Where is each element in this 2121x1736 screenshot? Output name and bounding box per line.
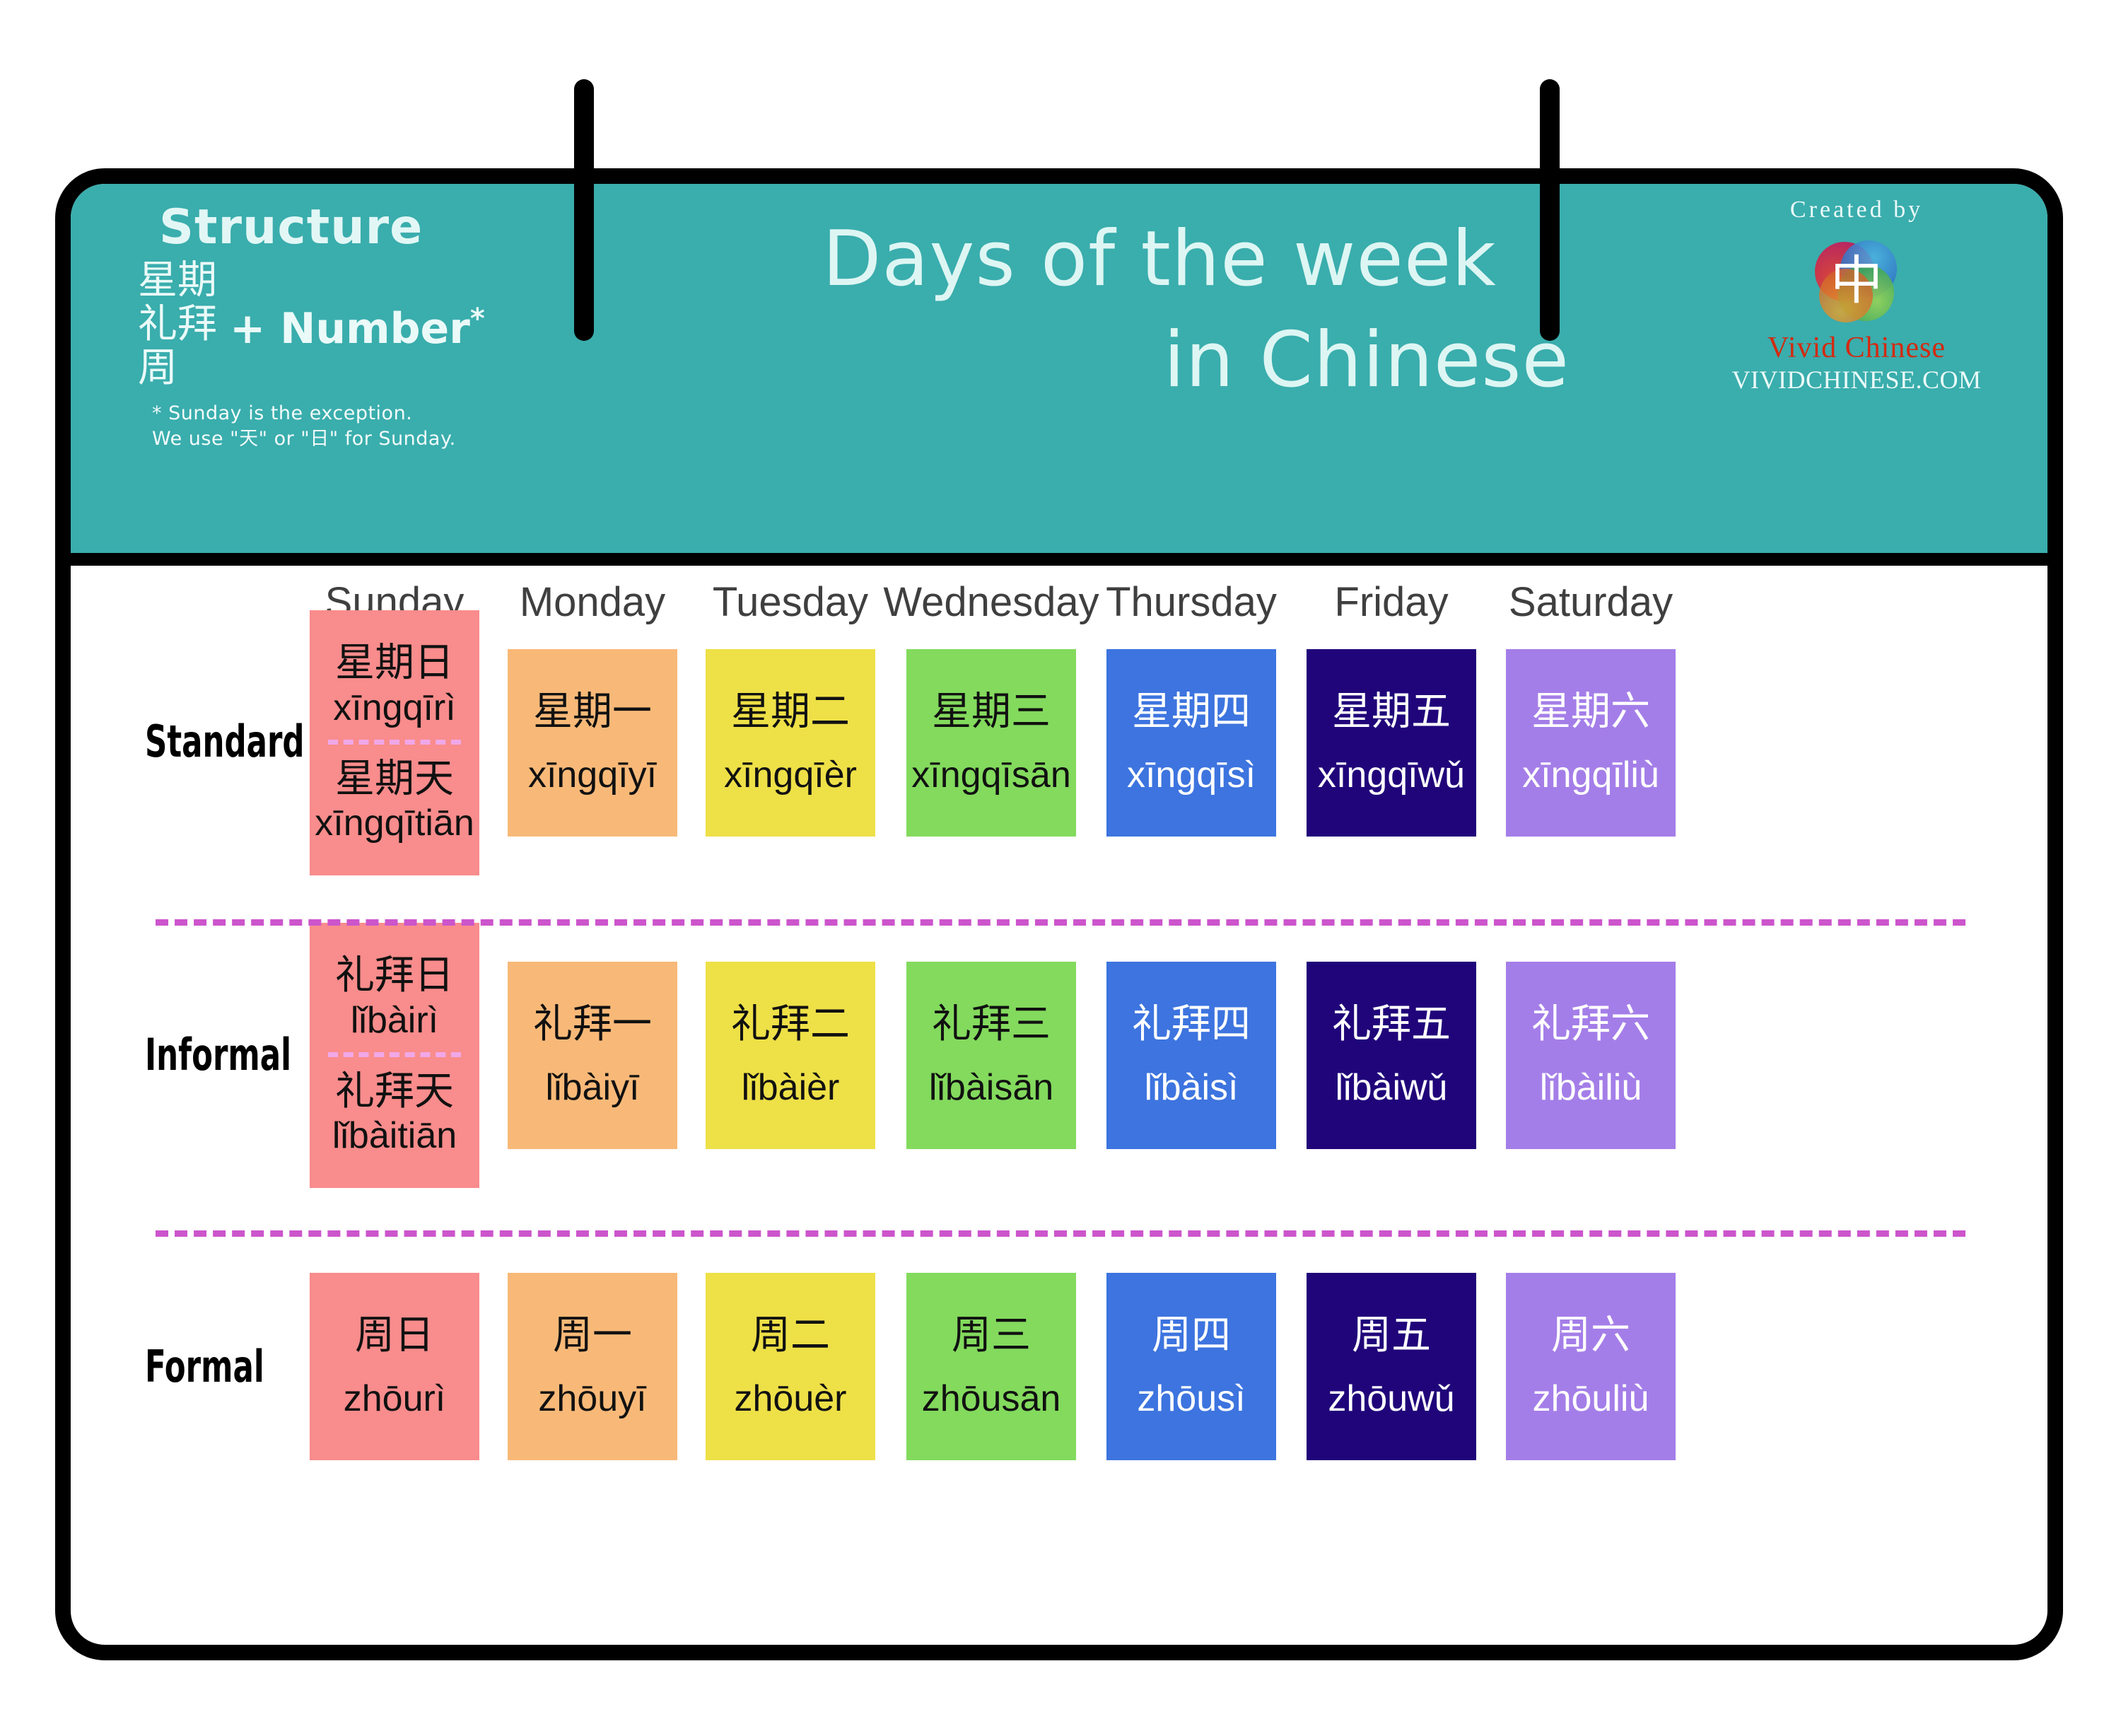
infographic-card: Structure 星期 礼拜 周 + Number* * Sunday is …: [55, 168, 2063, 1660]
hanzi-text: 周五: [1352, 1312, 1431, 1358]
hanzi-text: 礼拜四: [1132, 1001, 1251, 1047]
vivid-chinese-logo-icon: 中: [1804, 228, 1910, 334]
structure-word-xingqi: 星期: [138, 260, 217, 303]
binder-clip-right: [1540, 79, 1560, 341]
pinyin-text: zhōuyī: [538, 1377, 646, 1421]
hanzi-text: 礼拜三: [932, 1001, 1051, 1047]
page-title: Days of the week in Chinese: [693, 219, 1626, 401]
hanzi-text: 星期六: [1531, 689, 1650, 734]
cell-formal-sunday: 周日zhōurì: [310, 1273, 479, 1460]
pinyin-text: xīngqīliù: [1522, 753, 1659, 797]
footnote-line-2: We use "天" or "日" for Sunday.: [152, 426, 647, 452]
pinyin-text: zhōusì: [1137, 1377, 1245, 1421]
structure-block: Structure 星期 礼拜 周 + Number* * Sunday is …: [138, 199, 647, 453]
cell-informal-friday: 礼拜五lǐbàiwǔ: [1307, 962, 1476, 1149]
cell-formal-monday: 周一zhōuyī: [508, 1273, 677, 1460]
structure-word-stack: 星期 礼拜 周: [138, 260, 217, 391]
structure-footnote: * Sunday is the exception. We use "天" or…: [138, 401, 647, 453]
svg-text:中: 中: [1830, 250, 1883, 311]
pinyin-text: xīngqīèr: [724, 753, 857, 797]
cell-formal-saturday: 周六zhōuliù: [1506, 1273, 1676, 1460]
brand-name: Vivid Chinese: [1708, 331, 2005, 365]
pinyin-text: lǐbàiliù: [1540, 1066, 1642, 1109]
structure-word-libai: 礼拜: [138, 303, 217, 347]
cell-formal-friday: 周五zhōuwǔ: [1307, 1273, 1476, 1460]
brand-block: Created by: [1708, 197, 2005, 395]
hanzi-text: 周一: [553, 1312, 632, 1358]
pinyin-text: lǐbàitiān: [332, 1114, 457, 1158]
cell-formal-thursday: 周四zhōusì: [1106, 1273, 1276, 1460]
cell-informal-wednesday: 礼拜三lǐbàisān: [906, 962, 1076, 1149]
reading-secondary: 星期天xīngqītiān: [315, 756, 474, 846]
hanzi-text: 礼拜六: [1531, 1001, 1650, 1047]
cell-standard-tuesday: 星期二xīngqīèr: [706, 649, 875, 837]
binder-clip-left: [574, 79, 594, 341]
hanzi-text: 礼拜二: [731, 1001, 850, 1047]
cell-informal-saturday: 礼拜六lǐbàiliù: [1506, 962, 1676, 1149]
cell-standard-sunday: 星期日xīngqīrì星期天xīngqītiān: [310, 610, 479, 875]
hanzi-text: 星期一: [533, 689, 652, 734]
asterisk-marker: *: [470, 303, 485, 335]
hanzi-text: 星期日: [335, 640, 454, 685]
hanzi-text: 礼拜日: [335, 953, 454, 998]
pinyin-text: lǐbàisì: [1145, 1066, 1239, 1109]
hanzi-text: 礼拜一: [533, 1001, 652, 1047]
plus-number-label: + Number*: [230, 303, 485, 354]
hanzi-text: 星期五: [1332, 689, 1451, 734]
pinyin-text: zhōuliù: [1533, 1377, 1649, 1421]
days-table: SundayMondayTuesdayWednesdayThursdayFrid…: [71, 566, 2047, 1646]
cell-formal-wednesday: 周三zhōusān: [906, 1273, 1076, 1460]
hanzi-text: 星期四: [1132, 689, 1251, 734]
hanzi-text: 周四: [1152, 1312, 1231, 1358]
hanzi-text: 周三: [952, 1312, 1031, 1358]
cell-standard-saturday: 星期六xīngqīliù: [1506, 649, 1676, 837]
pinyin-text: xīngqīyī: [528, 753, 657, 797]
cell-standard-wednesday: 星期三xīngqīsān: [906, 649, 1076, 837]
cell-formal-tuesday: 周二zhōuèr: [706, 1273, 875, 1460]
pinyin-text: lǐbàirì: [351, 998, 438, 1042]
structure-word-zhou: 周: [138, 347, 217, 391]
pinyin-text: xīngqīsān: [911, 753, 1071, 797]
pinyin-text: lǐbàiyī: [546, 1066, 640, 1109]
reading-divider: [328, 740, 460, 745]
pinyin-text: zhōusān: [922, 1377, 1061, 1421]
pinyin-text: zhōurì: [344, 1377, 446, 1421]
pinyin-text: xīngqīrì: [333, 686, 455, 730]
cell-informal-sunday: 礼拜日lǐbàirì礼拜天lǐbàitiān: [310, 923, 479, 1188]
pinyin-text: xīngqītiān: [315, 801, 474, 845]
page-title-line-2: in Chinese: [693, 320, 1626, 400]
cell-standard-friday: 星期五xīngqīwǔ: [1307, 649, 1476, 837]
structure-title: Structure: [138, 199, 647, 255]
reading-secondary: 礼拜天lǐbàitiān: [332, 1068, 457, 1158]
structure-formula: 星期 礼拜 周 + Number*: [138, 260, 647, 391]
page-title-line-1: Days of the week: [693, 219, 1626, 299]
created-by-label: Created by: [1708, 197, 2005, 223]
cell-informal-thursday: 礼拜四lǐbàisì: [1106, 962, 1276, 1149]
pinyin-text: lǐbàisān: [929, 1066, 1053, 1109]
reading-divider: [328, 1052, 460, 1057]
footnote-line-1: * Sunday is the exception.: [152, 401, 647, 426]
hanzi-text: 星期二: [731, 689, 850, 734]
pinyin-text: zhōuwǔ: [1328, 1377, 1454, 1421]
row-label-standard: Standard: [145, 716, 305, 767]
row-label-informal: Informal: [145, 1029, 291, 1080]
pinyin-text: xīngqīwǔ: [1318, 753, 1465, 797]
plus-number-text: + Number: [230, 304, 470, 354]
hanzi-text: 周二: [751, 1312, 830, 1358]
hanzi-text: 周六: [1551, 1312, 1630, 1358]
cell-standard-monday: 星期一xīngqīyī: [508, 649, 677, 837]
hanzi-text: 星期三: [932, 689, 1051, 734]
brand-url: VIVIDCHINESE.COM: [1708, 365, 2005, 395]
row-divider-1: [156, 919, 1965, 926]
hanzi-text: 星期天: [335, 756, 454, 801]
pinyin-text: zhōuèr: [735, 1377, 847, 1421]
cell-informal-monday: 礼拜一lǐbàiyī: [508, 962, 677, 1149]
hanzi-text: 礼拜五: [1332, 1001, 1451, 1047]
reading-primary: 礼拜日lǐbàirì: [335, 953, 454, 1042]
pinyin-text: xīngqīsì: [1127, 753, 1256, 797]
hanzi-text: 礼拜天: [335, 1068, 454, 1114]
pinyin-text: lǐbàiwǔ: [1336, 1066, 1448, 1109]
row-label-formal: Formal: [145, 1341, 264, 1392]
cell-informal-tuesday: 礼拜二lǐbàièr: [706, 962, 875, 1149]
row-divider-2: [156, 1230, 1965, 1237]
hanzi-text: 周日: [355, 1312, 434, 1358]
pinyin-text: lǐbàièr: [742, 1066, 840, 1109]
cell-standard-thursday: 星期四xīngqīsì: [1106, 649, 1276, 837]
header-banner: Structure 星期 礼拜 周 + Number* * Sunday is …: [71, 184, 2047, 566]
column-header-saturday: Saturday: [1449, 578, 1732, 626]
reading-primary: 星期日xīngqīrì: [333, 640, 455, 730]
